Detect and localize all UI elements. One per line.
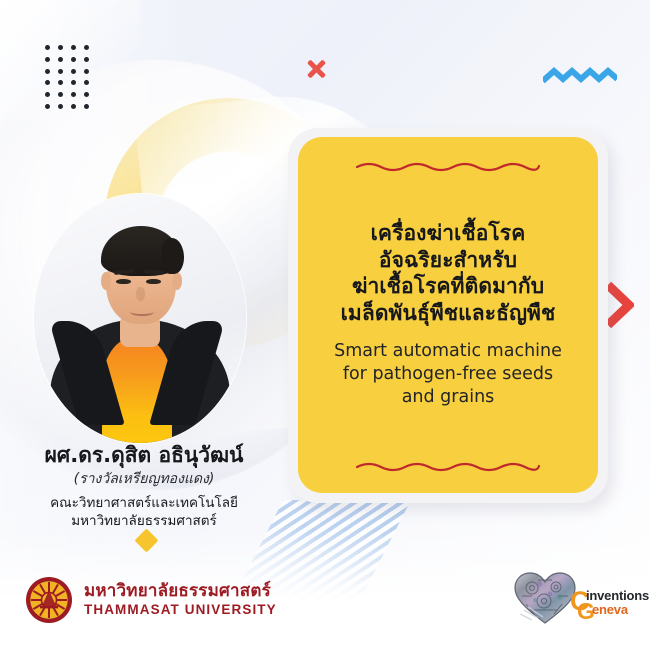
title-card-body: เครื่องฆ่าเชื้อโรค อัจฉริยะสำหรับ ฆ่าเชื… <box>334 220 562 409</box>
card-title-thai-line-1: เครื่องฆ่าเชื้อโรค <box>341 220 556 246</box>
geneva-word-geneva: eneva <box>592 603 628 616</box>
card-title-english-line-1: Smart automatic machine <box>334 340 562 363</box>
x-mark-icon <box>305 58 327 80</box>
presenter-info: ผศ.ดร.ดุสิต อธินุวัฒน์ (รางวัลเหรียญทองแ… <box>0 443 288 530</box>
presenter-photo <box>34 194 246 443</box>
card-title-english-line-3: and grains <box>334 386 562 409</box>
presenter-name: ผศ.ดร.ดุสิต อธินุวัฒน์ <box>0 443 288 468</box>
presenter-faculty: คณะวิทยาศาสตร์และเทคโนโลยี <box>0 494 288 512</box>
zigzag-icon <box>543 66 617 88</box>
card-title-thai-line-3: ฆ่าเชื้อโรคที่ติดมากับ <box>341 273 556 299</box>
card-title-english: Smart automatic machine for pathogen-fre… <box>334 340 562 409</box>
card-title-thai-line-2: อัจฉริยะสำหรับ <box>341 247 556 273</box>
presenter-award: (รางวัลเหรียญทองแดง) <box>0 471 288 488</box>
thammasat-logo: มหาวิทยาลัยธรรมศาสตร์ THAMMASAT UNIVERSI… <box>25 576 277 624</box>
dharma-wheel-seal-icon <box>25 576 73 624</box>
card-title-english-line-2: for pathogen-free seeds <box>334 363 562 386</box>
card-title-thai-line-4: เมล็ดพันธุ์พืชและธัญพืช <box>341 300 556 326</box>
presenter-university: มหาวิทยาลัยธรรมศาสตร์ <box>0 512 288 530</box>
dot-grid-icon <box>41 42 93 112</box>
poster-canvas: เครื่องฆ่าเชื้อโรค อัจฉริยะสำหรับ ฆ่าเชื… <box>0 0 650 649</box>
wave-divider-top <box>355 159 541 171</box>
thammasat-name-thai: มหาวิทยาลัยธรรมศาสตร์ <box>84 583 277 600</box>
inventions-geneva-logo: C inventions G eneva <box>512 570 638 628</box>
chevron-right-icon <box>604 281 634 329</box>
thammasat-logo-text: มหาวิทยาลัยธรรมศาสตร์ THAMMASAT UNIVERSI… <box>84 583 277 617</box>
mechanical-heart-icon <box>512 570 578 626</box>
title-card: เครื่องฆ่าเชื้อโรค อัจฉริยะสำหรับ ฆ่าเชื… <box>298 137 598 493</box>
geneva-word-inventions: inventions <box>586 589 649 602</box>
inventions-geneva-wordmark: C inventions G eneva <box>570 588 640 622</box>
card-title-thai: เครื่องฆ่าเชื้อโรค อัจฉริยะสำหรับ ฆ่าเชื… <box>341 220 556 326</box>
wave-divider-bottom <box>355 459 541 471</box>
thammasat-name-english: THAMMASAT UNIVERSITY <box>84 603 277 617</box>
